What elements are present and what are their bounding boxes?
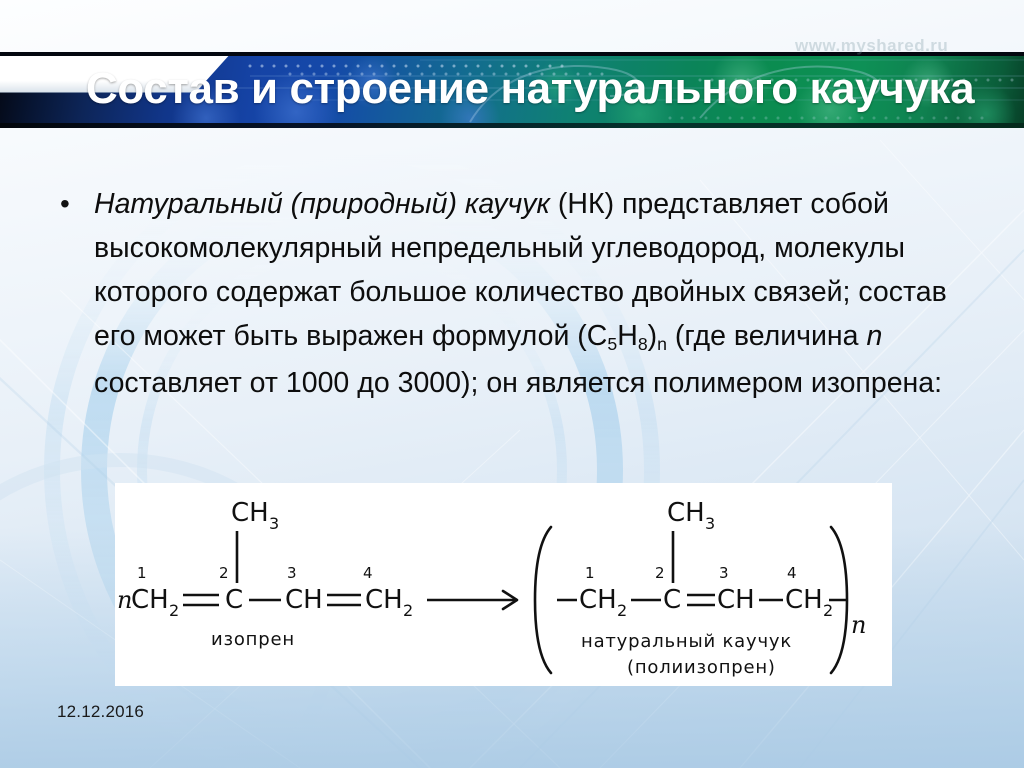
polyisoprene-methyl-sub: 3 xyxy=(705,514,715,533)
isoprene-locant-3: 3 xyxy=(287,564,297,582)
bullet-item: • Натуральный (природный) каучук (НК) пр… xyxy=(52,182,982,405)
isoprene-caption: изопрен xyxy=(211,629,295,650)
isoprene-locant-2: 2 xyxy=(219,564,229,582)
polyisoprene-atom-1-sub: 2 xyxy=(617,601,627,620)
body-paragraph: Натуральный (природный) каучук (НК) пред… xyxy=(94,182,982,405)
formula-hydrogen: H xyxy=(617,320,638,352)
isoprene-atom-4-sub: 2 xyxy=(403,601,413,620)
isoprene-structure: CH 3 1 2 3 4 n CH 2 xyxy=(117,498,413,650)
formula-hydrogen-count: 8 xyxy=(638,334,648,354)
isoprene-methyl-sub: 3 xyxy=(269,514,279,533)
isoprene-locant-4: 4 xyxy=(363,564,373,582)
chemical-formula-isoprene-unit: C5H8)n xyxy=(587,320,667,352)
polyisoprene-caption-line2: (полиизопрен) xyxy=(627,657,776,678)
polyisoprene-atom-2: C xyxy=(663,585,681,615)
polymer-bracket-open xyxy=(535,527,551,673)
paragraph-italic-lead: Натуральный (природный) каучук xyxy=(94,188,550,220)
isoprene-atom-1: CH xyxy=(131,585,169,615)
polyisoprene-locant-2: 2 xyxy=(655,564,665,582)
slide-date: 12.12.2016 xyxy=(57,702,144,722)
polymer-subscript-n: n xyxy=(851,611,866,639)
isoprene-atom-4: CH xyxy=(365,585,403,615)
paragraph-segment-3: (где величина xyxy=(667,320,866,352)
polyisoprene-atom-4-sub: 2 xyxy=(823,601,833,620)
title-banner: Состав и строение натурального каучука xyxy=(0,52,1024,128)
bullet-glyph: • xyxy=(52,182,94,226)
polyisoprene-atom-1: CH xyxy=(579,585,617,615)
reaction-arrow xyxy=(427,591,517,609)
isoprene-atom-1-sub: 2 xyxy=(169,601,179,620)
isoprene-atom-3: CH xyxy=(285,585,323,615)
formula-paren-close: ) xyxy=(648,320,658,352)
polyisoprene-caption-line1: натуральный каучук xyxy=(581,631,792,652)
polyisoprene-locant-4: 4 xyxy=(787,564,797,582)
isoprene-atom-2: C xyxy=(225,585,243,615)
chemical-reaction-card: .at{font-family:"DejaVu Sans","Liberatio… xyxy=(115,483,892,686)
presentation-slide: Состав и строение натурального каучука w… xyxy=(0,0,1024,768)
paragraph-segment-5: составляет от 1000 до 3000); он является… xyxy=(94,367,942,399)
polyisoprene-locant-3: 3 xyxy=(719,564,729,582)
chemical-reaction-diagram: .at{font-family:"DejaVu Sans","Liberatio… xyxy=(115,483,892,686)
formula-repeat-n: n xyxy=(657,334,667,354)
isoprene-locant-1: 1 xyxy=(137,564,147,582)
slide-content: • Натуральный (природный) каучук (НК) пр… xyxy=(52,182,982,405)
polyisoprene-atom-3: CH xyxy=(717,585,755,615)
polyisoprene-structure: n CH 3 1 2 3 4 CH 2 xyxy=(535,498,866,678)
paragraph-italic-n: n xyxy=(866,320,882,352)
polyisoprene-atom-4: CH xyxy=(785,585,823,615)
formula-carbon-count: 5 xyxy=(607,334,617,354)
polyisoprene-locant-1: 1 xyxy=(585,564,595,582)
polyisoprene-methyl-label: CH xyxy=(667,498,705,528)
isoprene-methyl-label: CH xyxy=(231,498,269,528)
formula-carbon: C xyxy=(587,320,608,352)
page-title: Состав и строение натурального каучука xyxy=(86,52,1024,128)
site-watermark: www.myshared.ru xyxy=(795,36,948,56)
